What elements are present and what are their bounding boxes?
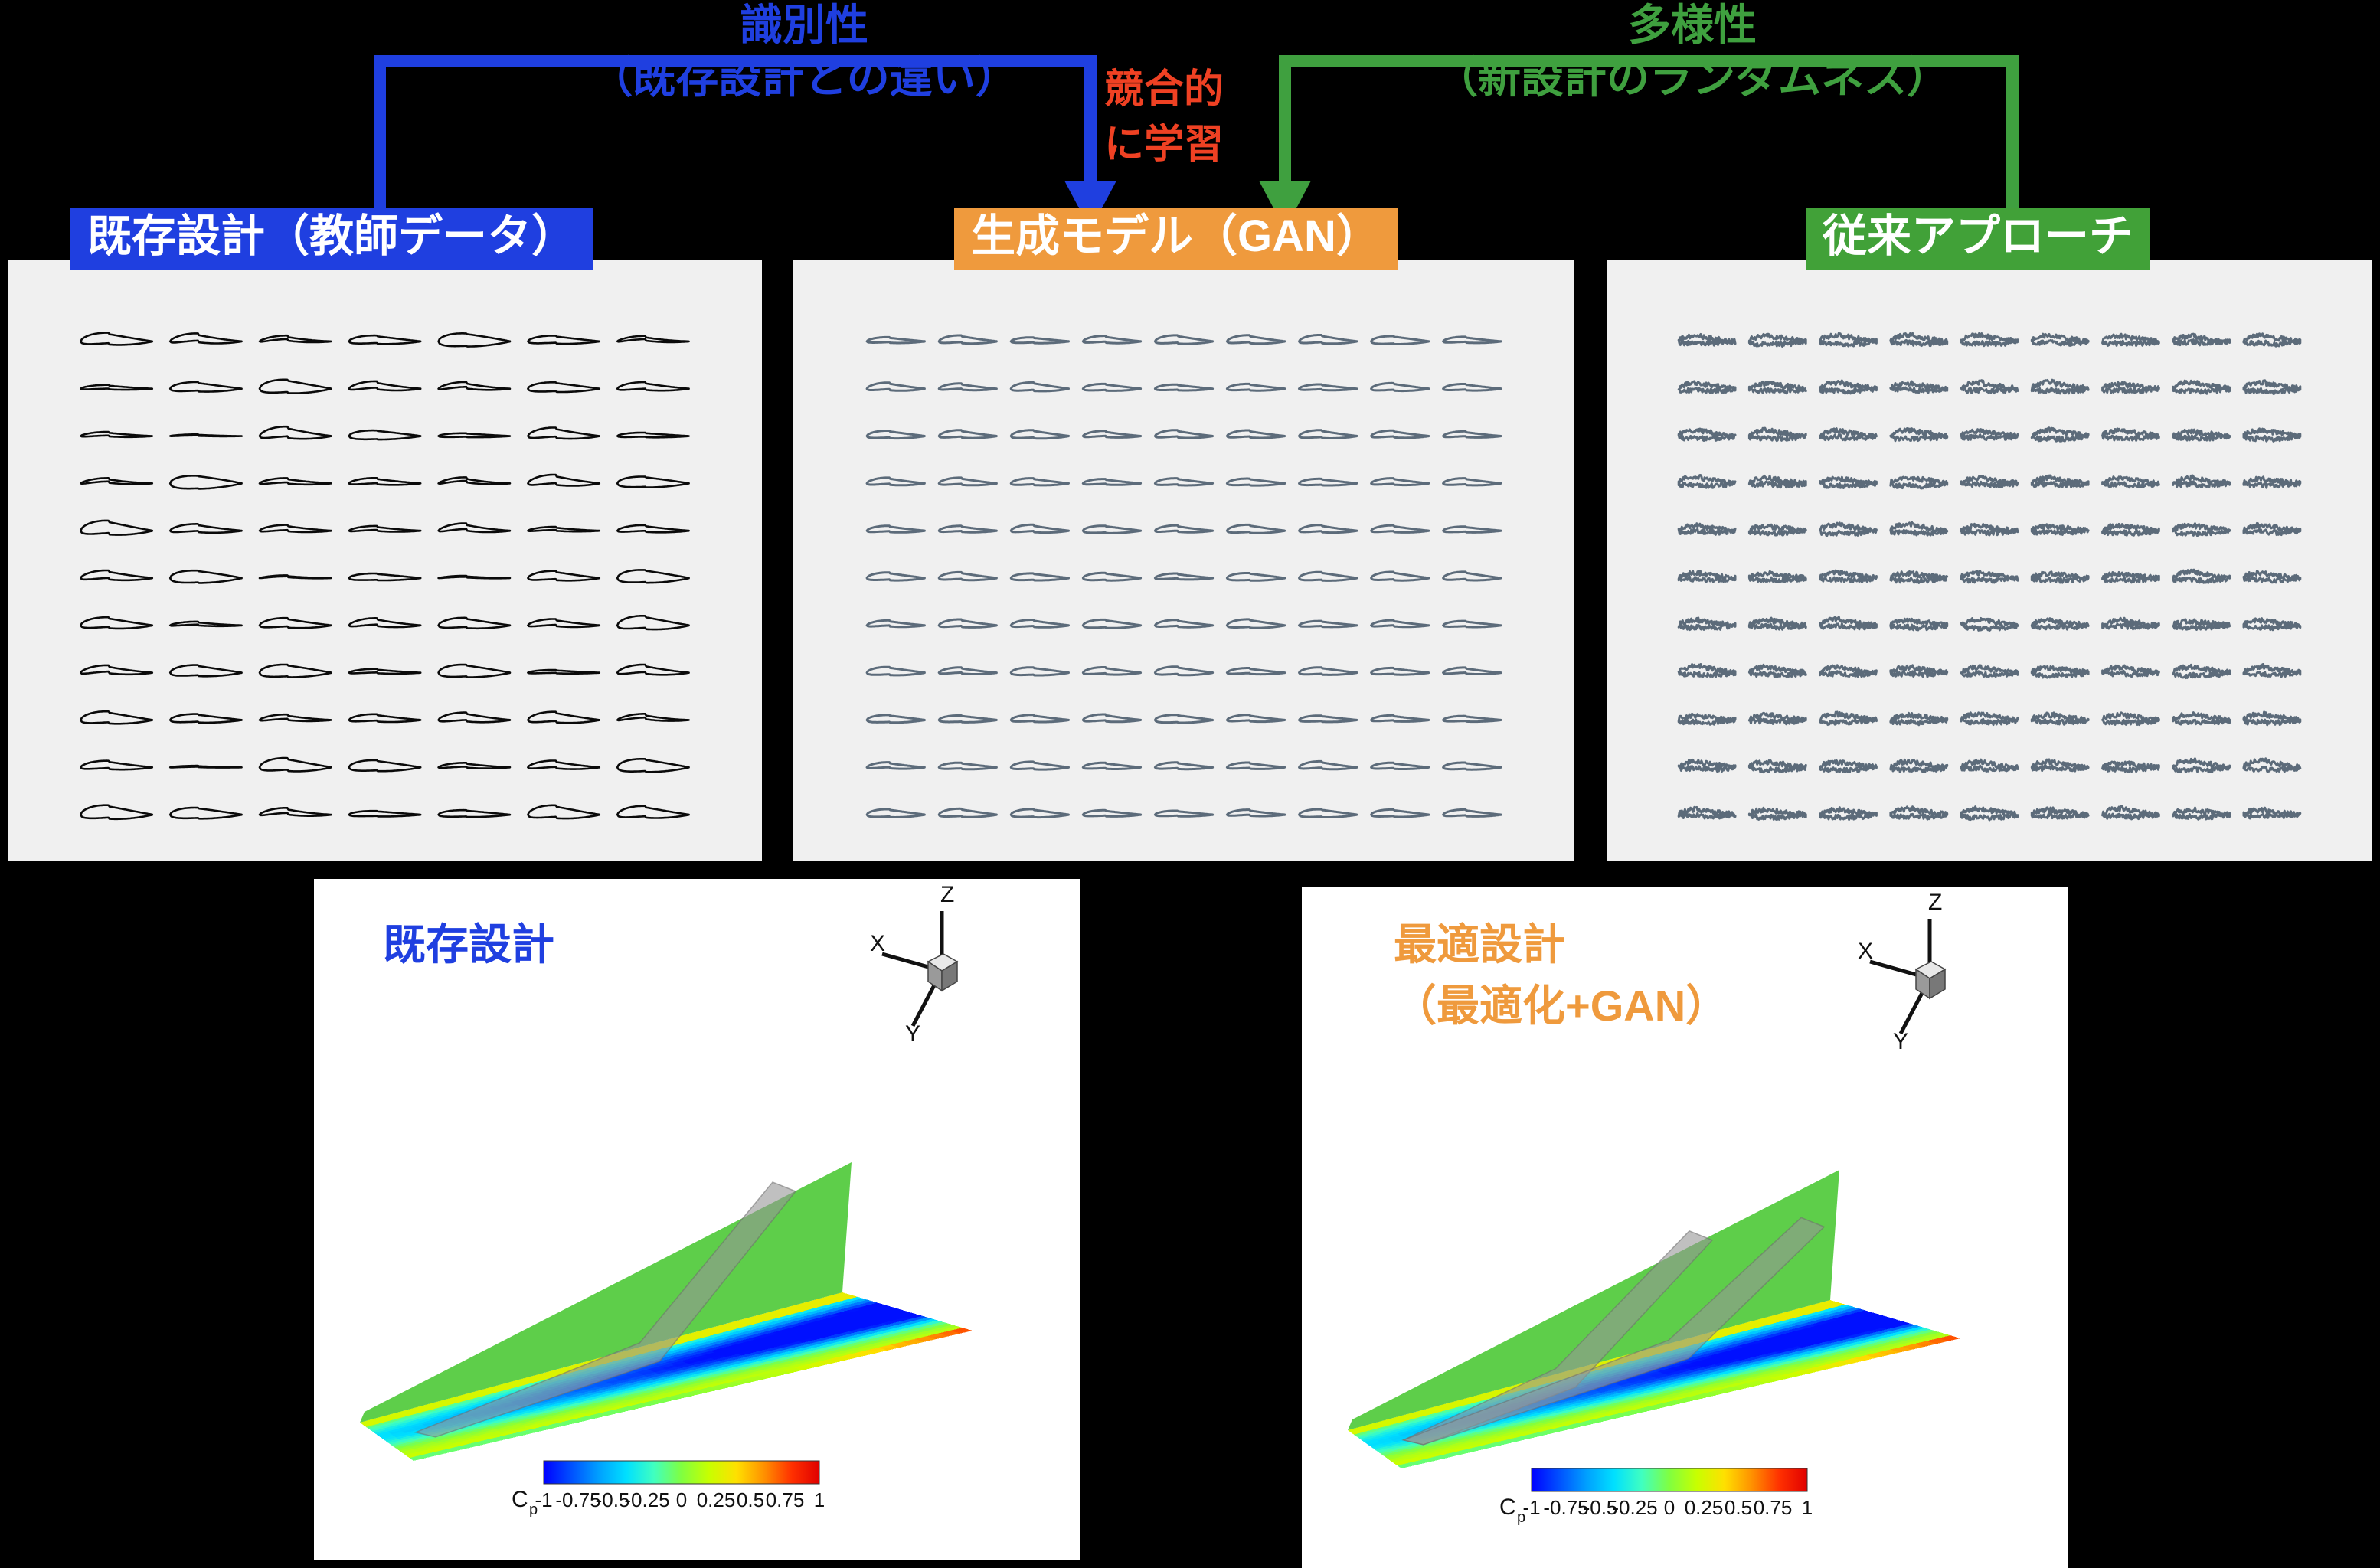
cfd-render-existing: ZXY Cp-1-0.75-0.5-0.2500.250.50.751 <box>314 879 1080 1560</box>
airfoil-shape <box>867 763 924 769</box>
airfoil-shape <box>867 431 924 439</box>
z-axis-label: Z <box>1928 890 1942 915</box>
airfoil-shape <box>1749 428 1806 441</box>
colorbar-optimized: Cp-1-0.75-0.5-0.2500.250.50.751 <box>1499 1468 1813 1526</box>
airfoil-shape <box>1227 668 1284 675</box>
airfoil-shape <box>1083 810 1140 816</box>
header-conventional-approach: 従来アプローチ <box>1806 208 2150 269</box>
airfoil-shape <box>617 382 688 390</box>
airfoil-shape <box>439 618 510 629</box>
cfd-title-optimized: 最適設計 （最適化+GAN） <box>1394 919 1728 1033</box>
airfoil-shape <box>260 478 331 484</box>
airfoil-shape <box>170 766 241 768</box>
airfoil-shape <box>1820 808 1877 820</box>
airfoil-shape <box>2103 665 2159 677</box>
airfoil-shape <box>1011 762 1068 769</box>
airfoil-shape <box>170 475 241 488</box>
airfoil-shape <box>80 432 152 437</box>
airfoil-shape <box>439 333 510 346</box>
airfoil-shape <box>939 335 996 344</box>
airfoil-shape <box>939 430 996 439</box>
airfoil-shape <box>1300 621 1357 627</box>
airfoil-shape <box>1443 479 1501 485</box>
airfoil-shape <box>1961 618 2018 630</box>
airfoil-shape <box>1749 713 1806 724</box>
airfoil-shape <box>2032 713 2088 724</box>
colorbar-tick: 0.25 <box>1685 1496 1724 1519</box>
airfoil-shape <box>2103 334 2159 345</box>
airfoil-shape <box>2103 382 2159 393</box>
airfoil-shape <box>1227 573 1284 581</box>
airfoil-shape <box>1155 811 1212 816</box>
airfoil-shape <box>1155 384 1212 390</box>
airfoil-shape <box>2032 475 2088 487</box>
airfoil-shape <box>260 808 331 815</box>
axis-triad-icon: ZXY <box>1858 890 1945 1054</box>
airfoil-shape <box>1679 618 1735 630</box>
airfoil-shape <box>1891 571 1947 583</box>
y-axis-label: Y <box>905 1021 920 1047</box>
airfoil-shape <box>2103 762 2159 772</box>
airfoil-shape <box>1961 381 2018 394</box>
airfoil-shape <box>1961 759 2018 771</box>
airfoil-shape <box>2032 572 2088 583</box>
airfoil-shape <box>1820 523 1877 536</box>
airfoil-shape <box>1961 333 2018 346</box>
panel-conventional-designs <box>1607 260 2372 861</box>
airfoil-shape <box>260 575 331 578</box>
airfoil-shape <box>349 618 420 627</box>
airfoil-shape <box>1749 524 1806 535</box>
airfoil-shape <box>1679 759 1735 771</box>
airfoil-shape <box>1300 668 1357 675</box>
airfoil-shape <box>1961 665 2018 677</box>
airfoil-shape <box>2173 759 2230 773</box>
airfoil-shape <box>1227 763 1284 769</box>
airfoil-shape <box>867 573 924 580</box>
airfoil-shape <box>1011 524 1068 532</box>
airfoil-shape <box>1961 524 2018 535</box>
airfoil-shape <box>528 619 599 627</box>
airfoil-shape <box>170 714 241 723</box>
airfoil-shape <box>2173 808 2230 819</box>
airfoil-shape <box>1749 381 1806 393</box>
y-axis-label: Y <box>1893 1029 1908 1054</box>
airfoil-shape <box>1443 337 1501 343</box>
airfoil-shape <box>349 430 420 439</box>
airfoil-shape <box>1371 525 1429 532</box>
airfoil-shape <box>1961 807 2018 820</box>
airfoil-shape <box>1443 668 1501 675</box>
airfoil-shape <box>1300 335 1357 344</box>
airfoil-shape <box>1083 668 1140 675</box>
airfoil-shape <box>1155 715 1212 723</box>
airfoil-shape <box>528 761 599 769</box>
airfoil-shape <box>1749 571 1806 582</box>
airfoil-shape <box>1820 617 1877 629</box>
airfoil-shape <box>1155 573 1212 580</box>
airfoil-shape <box>1443 572 1501 580</box>
airfoil-shape <box>1820 570 1877 582</box>
airfoil-shape <box>1227 524 1284 533</box>
airfoil-shape <box>1083 479 1140 485</box>
airfoil-shape <box>1679 571 1735 583</box>
airfoil-shape <box>2244 712 2300 725</box>
airfoil-shape <box>1371 763 1429 769</box>
airfoil-shape <box>617 477 688 488</box>
gan-airfoil-grid <box>793 260 1574 861</box>
airfoil-shape <box>2173 570 2230 583</box>
colorbar-gradient <box>1532 1468 1807 1491</box>
airfoil-shape <box>1679 665 1735 678</box>
colorbar-existing: Cp-1-0.75-0.5-0.2500.250.50.751 <box>512 1461 825 1518</box>
colorbar-tick: -0.25 <box>1612 1496 1657 1519</box>
airfoil-shape <box>1891 759 1947 772</box>
airfoil-shape <box>170 382 241 392</box>
colorbar-label: C <box>512 1487 528 1512</box>
airfoil-shape <box>528 712 599 724</box>
airfoil-shape <box>1820 477 1877 488</box>
airfoil-shape <box>617 665 688 675</box>
airfoil-shape <box>80 617 152 629</box>
airfoil-shape <box>2103 572 2159 582</box>
airfoil-shape <box>528 475 599 486</box>
axis-triad-icon: ZXY <box>870 882 957 1047</box>
airfoil-shape <box>170 570 241 583</box>
airfoil-shape <box>1011 338 1068 344</box>
airfoil-shape <box>2103 477 2159 488</box>
airfoil-shape <box>439 576 510 578</box>
colorbar-label: C <box>1499 1494 1516 1520</box>
airfoil-shape <box>1227 715 1284 722</box>
airfoil-shape <box>1891 619 1947 630</box>
airfoil-shape <box>617 714 688 720</box>
airfoil-shape <box>1961 430 2018 440</box>
airfoil-shape <box>1227 479 1284 485</box>
airfoil-shape <box>1443 716 1501 722</box>
airfoil-shape <box>617 806 688 818</box>
airfoil-shape <box>867 526 924 533</box>
airfoil-shape <box>1227 810 1284 816</box>
airfoil-shape <box>439 433 510 437</box>
airfoil-shape <box>939 716 996 723</box>
colorbar-tick: 0.75 <box>766 1488 805 1511</box>
airfoil-shape <box>2244 381 2300 394</box>
airfoil-shape <box>1679 714 1735 724</box>
airfoil-shape <box>1371 668 1429 675</box>
airfoil-shape <box>1300 430 1357 439</box>
airfoil-shape <box>1155 479 1212 485</box>
airfoil-shape <box>867 715 924 723</box>
airfoil-shape <box>1679 524 1735 535</box>
airfoil-shape <box>528 805 599 818</box>
airfoil-shape <box>1443 527 1501 533</box>
airfoil-shape <box>939 526 996 532</box>
airfoil-shape <box>867 383 924 391</box>
airfoil-shape <box>2244 477 2300 488</box>
airfoil-shape <box>1300 525 1357 533</box>
airfoil-shape <box>1443 621 1501 627</box>
wing-surface-existing <box>360 1162 973 1461</box>
airfoil-shape <box>1961 476 2018 488</box>
airfoil-shape <box>1371 479 1429 485</box>
airfoil-shape <box>1155 430 1212 438</box>
airfoil-shape <box>1891 522 1947 535</box>
airfoil-shape <box>2032 524 2088 535</box>
airfoil-shape <box>2103 713 2159 725</box>
airfoil-shape <box>1300 809 1357 817</box>
airfoil-shape <box>260 380 331 394</box>
airfoil-shape <box>260 335 331 342</box>
airfoil-shape <box>1083 619 1140 628</box>
airfoil-shape <box>1155 335 1212 344</box>
airfoil-shape <box>1227 430 1284 438</box>
airfoil-shape <box>1749 475 1806 487</box>
airfoil-shape <box>1891 713 1947 725</box>
airfoil-shape <box>1820 381 1877 394</box>
airfoil-shape <box>349 760 420 771</box>
airfoil-shape <box>1891 665 1947 677</box>
airfoil-shape <box>260 758 331 771</box>
airfoil-shape <box>1227 384 1284 390</box>
airfoil-shape <box>1300 479 1357 485</box>
x-axis-label: X <box>1858 939 1873 964</box>
airfoil-shape <box>80 570 152 580</box>
airfoil-shape <box>2244 808 2300 818</box>
airfoil-shape <box>260 525 331 532</box>
airfoil-shape <box>80 805 152 819</box>
airfoil-shape <box>2103 524 2159 535</box>
airfoil-shape <box>617 570 688 583</box>
airfoil-shape <box>617 759 688 772</box>
airfoil-shape <box>2244 429 2300 442</box>
airfoil-shape <box>1083 526 1140 534</box>
airfoil-shape <box>1961 571 2018 583</box>
airfoil-shape <box>1155 525 1212 532</box>
airfoil-shape <box>2103 429 2159 441</box>
colorbar-tick: 1 <box>1802 1496 1813 1519</box>
airfoil-shape <box>939 619 996 627</box>
airfoil-shape <box>617 433 688 437</box>
panel-gan-designs <box>793 260 1574 861</box>
airfoil-shape <box>2173 430 2230 440</box>
airfoil-shape <box>867 667 924 675</box>
airfoil-shape <box>1011 668 1068 675</box>
airfoil-shape <box>939 384 996 390</box>
airfoil-shape <box>2032 619 2088 629</box>
airfoil-shape <box>617 525 688 532</box>
airfoil-shape <box>349 714 420 722</box>
airfoil-shape <box>2032 334 2088 345</box>
airfoil-shape <box>260 714 331 721</box>
airfoil-shape <box>1300 384 1357 390</box>
airfoil-shape <box>2103 618 2159 629</box>
airfoil-shape <box>939 478 996 485</box>
airfoil-shape <box>1371 336 1429 345</box>
airfoil-shape <box>1083 763 1140 769</box>
cfd-panel-existing: ZXY Cp-1-0.75-0.5-0.2500.250.50.751 <box>314 879 1080 1560</box>
airfoil-shape <box>2032 428 2088 442</box>
wing-surface-optimized <box>1348 1170 1960 1468</box>
cfd-title-existing-line1: 既存設計 <box>383 920 554 969</box>
airfoil-shape <box>1300 716 1357 722</box>
airfoil-shape <box>1749 760 1806 772</box>
airfoil-shape <box>2244 523 2300 534</box>
airfoil-shape <box>2244 759 2300 772</box>
airfoil-shape <box>1820 760 1877 772</box>
airfoil-shape <box>1371 572 1429 580</box>
airfoil-shape <box>939 763 996 769</box>
airfoil-shape <box>1155 763 1212 769</box>
airfoil-shape <box>1820 333 1877 346</box>
airfoil-shape <box>2244 334 2300 346</box>
airfoil-shape <box>260 426 331 439</box>
airfoil-shape <box>2103 806 2159 819</box>
colorbar-tick: -0.25 <box>624 1488 669 1511</box>
airfoil-shape <box>170 524 241 533</box>
airfoil-shape <box>1011 479 1068 485</box>
airfoil-shape <box>1083 714 1140 722</box>
airfoil-shape <box>1011 715 1068 722</box>
airfoil-shape <box>260 618 331 628</box>
airfoil-shape <box>1679 475 1735 488</box>
airfoil-shape <box>80 521 152 535</box>
airfoil-shape <box>80 385 152 390</box>
header-gan-model: 生成モデル（GAN） <box>954 208 1398 269</box>
airfoil-shape <box>2173 334 2230 345</box>
airfoil-shape <box>528 527 599 531</box>
airfoil-shape <box>1679 381 1735 393</box>
airfoil-shape <box>1749 618 1806 629</box>
airfoil-shape <box>80 665 152 675</box>
airfoil-shape <box>80 711 152 724</box>
colorbar-tick: 0.5 <box>737 1488 764 1511</box>
airfoil-shape <box>1891 807 1947 819</box>
airfoil-shape <box>1443 431 1501 437</box>
airfoil-shape <box>2173 713 2230 725</box>
airfoil-shape <box>528 571 599 581</box>
colorbar-tick: 0 <box>676 1488 687 1511</box>
airfoil-shape <box>1227 335 1284 344</box>
airfoil-shape <box>2032 666 2088 678</box>
airfoil-shape <box>439 810 510 817</box>
airfoil-shape <box>170 808 241 818</box>
airfoil-shape <box>349 335 420 344</box>
airfoil-shape <box>1679 807 1735 818</box>
airfoil-shape <box>80 333 152 345</box>
airfoil-shape <box>170 622 241 626</box>
airfoil-shape <box>1371 620 1429 627</box>
airfoil-shape <box>2244 619 2300 630</box>
airfoil-shape <box>80 478 152 484</box>
airfoil-shape <box>349 573 420 580</box>
cfd-title-existing: 既存設計 <box>383 919 554 971</box>
airfoil-shape <box>1371 809 1429 817</box>
airfoil-shape <box>170 434 241 436</box>
airfoil-shape <box>349 526 420 532</box>
airfoil-shape <box>349 811 420 816</box>
airfoil-shape <box>349 478 420 485</box>
airfoil-shape <box>1443 384 1501 391</box>
existing-airfoil-grid <box>8 260 762 861</box>
airfoil-shape <box>1011 573 1068 580</box>
airfoil-shape <box>1749 334 1806 346</box>
colorbar-tick: -1 <box>1522 1496 1540 1519</box>
colorbar-tick: 0.5 <box>1725 1496 1752 1519</box>
airfoil-shape <box>1820 712 1877 725</box>
airfoil-shape <box>1820 665 1877 677</box>
airfoil-shape <box>1443 809 1501 816</box>
colorbar-tick: -0.75 <box>555 1488 600 1511</box>
airfoil-shape <box>439 665 510 677</box>
airfoil-shape <box>170 333 241 343</box>
airfoil-shape <box>1891 477 1947 488</box>
airfoil-shape <box>1371 383 1429 390</box>
airfoil-shape <box>1749 665 1806 677</box>
airfoil-shape <box>1011 809 1068 818</box>
conventional-blob-grid <box>1607 260 2372 861</box>
airfoil-shape <box>1155 667 1212 675</box>
airfoil-shape <box>1891 429 1947 441</box>
airfoil-shape <box>439 524 510 533</box>
airfoil-shape <box>1371 430 1429 438</box>
airfoil-shape <box>1443 763 1501 769</box>
airfoil-shape <box>939 808 996 817</box>
cfd-title-optimized-line2: （最適化+GAN） <box>1394 980 1728 1032</box>
airfoil-shape <box>1083 336 1140 344</box>
header-existing-designs: 既存設計（教師データ） <box>70 208 593 269</box>
airfoil-shape <box>2244 665 2300 677</box>
airfoil-shape <box>2173 475 2230 487</box>
colorbar-tick: -0.75 <box>1543 1496 1588 1519</box>
colorbar-tick: 0.75 <box>1754 1496 1793 1519</box>
airfoil-shape <box>2173 665 2230 678</box>
airfoil-shape <box>528 382 599 392</box>
airfoil-shape <box>1300 572 1357 580</box>
airfoil-shape <box>1011 382 1068 391</box>
cfd-title-optimized-line1: 最適設計 <box>1394 920 1565 969</box>
airfoil-shape <box>1083 573 1140 580</box>
x-axis-label: X <box>870 931 885 956</box>
airfoil-shape <box>2032 380 2088 394</box>
airfoil-shape <box>1679 429 1735 441</box>
airfoil-shape <box>867 620 924 626</box>
airfoil-shape <box>2173 381 2230 394</box>
airfoil-shape <box>439 763 510 768</box>
airfoil-shape <box>1155 620 1212 628</box>
colorbar-tick: -1 <box>535 1488 552 1511</box>
airfoil-shape <box>1083 384 1140 390</box>
airfoil-shape <box>2244 571 2300 583</box>
airfoil-shape <box>80 761 152 770</box>
airfoil-shape <box>1891 381 1947 393</box>
colorbar-tick: 0.25 <box>697 1488 736 1511</box>
airfoil-shape <box>2032 759 2088 771</box>
airfoil-shape <box>170 665 241 677</box>
airfoil-shape <box>617 616 688 629</box>
panel-existing-designs <box>8 260 762 861</box>
airfoil-shape <box>617 336 688 342</box>
airfoil-shape <box>1011 620 1068 628</box>
airfoil-shape <box>349 381 420 390</box>
airfoil-shape <box>1961 713 2018 725</box>
airfoil-shape <box>528 335 599 344</box>
airfoil-shape <box>1300 761 1357 769</box>
z-axis-label: Z <box>940 882 954 907</box>
airfoil-shape <box>528 428 599 439</box>
airfoil-shape <box>1679 335 1735 346</box>
airfoil-shape <box>2173 619 2230 629</box>
